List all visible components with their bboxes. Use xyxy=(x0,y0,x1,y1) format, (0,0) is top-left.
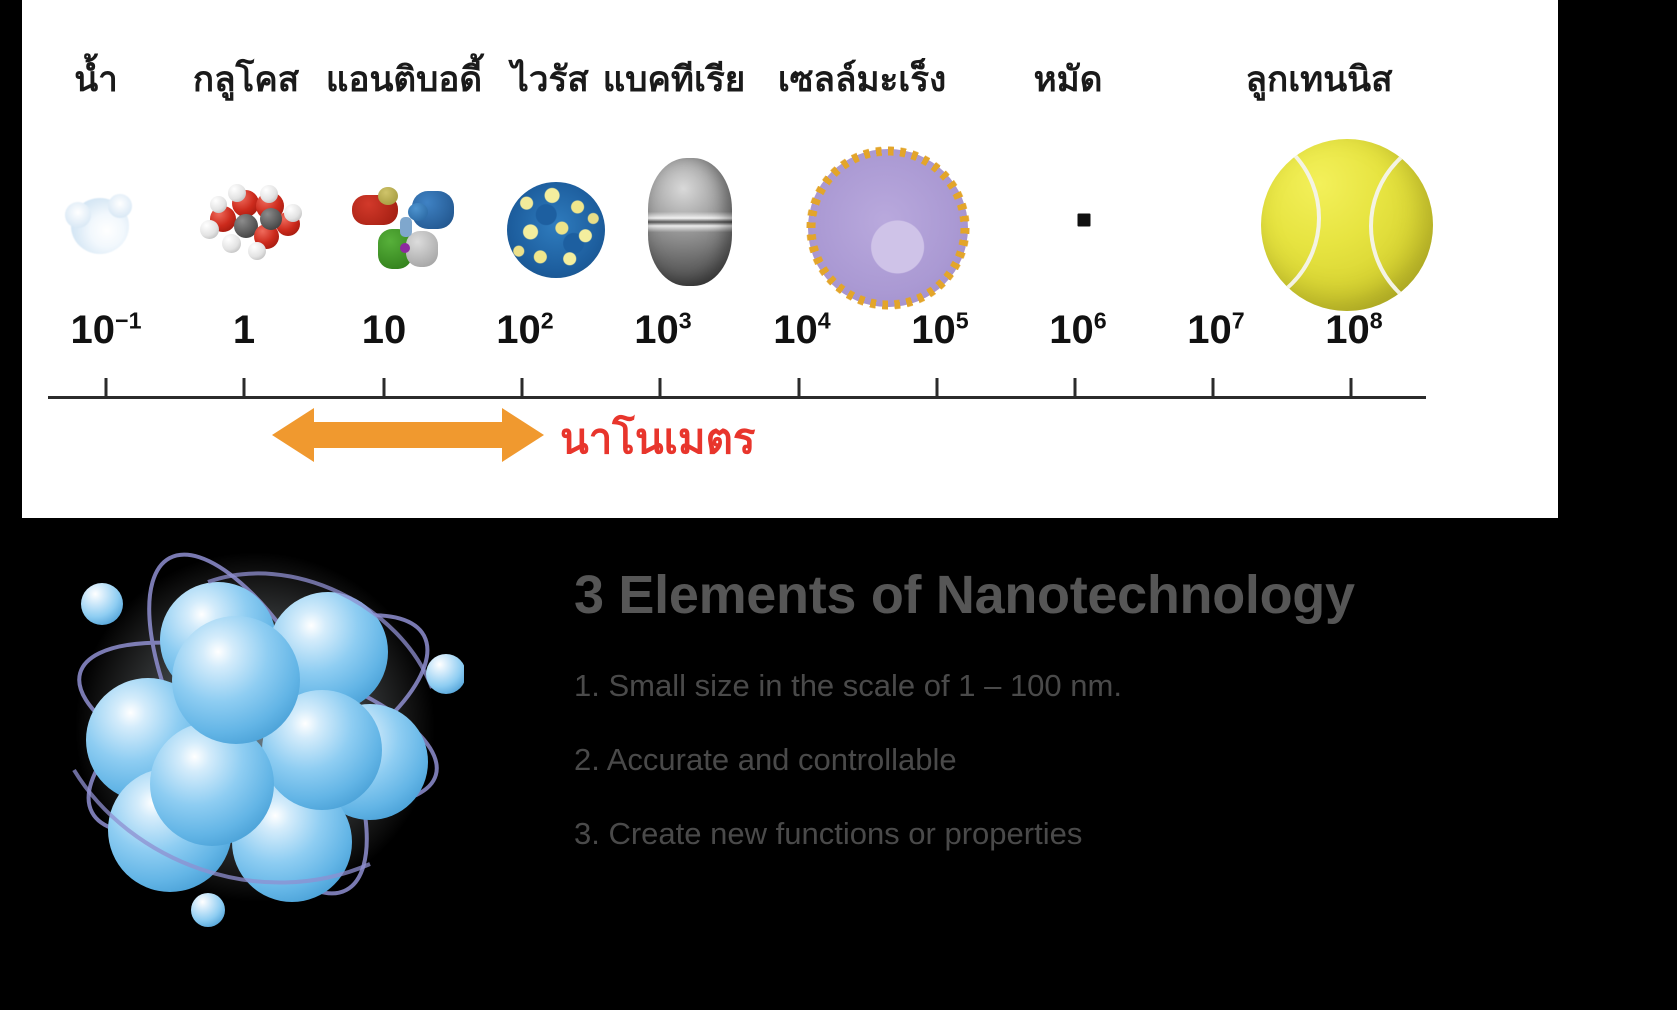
nanometer-range-arrow-icon xyxy=(272,406,544,464)
water-molecule-icon xyxy=(71,198,129,254)
axis-label-2: 10 xyxy=(362,308,407,353)
list-item: 3. Create new functions or properties xyxy=(574,816,1677,852)
nanoscale-chart-panel: น้ำ กลูโคส แอนติบอดี้ ไวรัส แบคทีเรีย เซ… xyxy=(22,0,1558,518)
axis-tick-1 xyxy=(243,378,246,397)
cancer-cell-membrane-ring xyxy=(801,142,975,314)
specimen-label-glucose: กลูโคส xyxy=(193,62,299,99)
tennis-ball-icon xyxy=(1261,139,1433,311)
bacteria-cell-icon xyxy=(648,158,732,286)
specimen-label-water: น้ำ xyxy=(74,62,118,99)
electron-particle xyxy=(191,893,225,927)
specimen-label-tennis-ball: ลูกเทนนิส xyxy=(1246,62,1393,99)
axis-label-7: 106 xyxy=(1049,308,1106,353)
nanometer-caption: นาโนเมตร xyxy=(560,406,755,472)
antibody-molecule-icon xyxy=(352,173,468,283)
virus-particle-icon xyxy=(507,182,605,278)
electron-particle xyxy=(81,583,123,625)
glucose-molecule-icon xyxy=(198,184,302,268)
axis-label-9: 108 xyxy=(1325,308,1382,353)
specimen-label-cancer-cell: เซลล์มะเร็ง xyxy=(778,62,946,99)
content-panel: 3 Elements of Nanotechnology 1. Small si… xyxy=(464,518,1677,1010)
axis-label-4: 103 xyxy=(634,308,691,353)
specimen-label-flea: หมัด xyxy=(1034,62,1103,99)
axis-tick-7 xyxy=(1074,378,1077,397)
specimen-label-virus: ไวรัส xyxy=(511,62,588,99)
slide-root: น้ำ กลูโคส แอนติบอดี้ ไวรัส แบคทีเรีย เซ… xyxy=(0,0,1677,1010)
axis-tick-2 xyxy=(383,378,386,397)
electron-particle xyxy=(426,654,466,694)
axis-label-1: 1 xyxy=(233,308,255,353)
axis-label-0: 10−1 xyxy=(71,308,142,353)
axis-tick-8 xyxy=(1212,378,1215,397)
scale-axis-line xyxy=(48,396,1426,399)
flea-icon xyxy=(1078,214,1091,227)
atom-illustration xyxy=(40,512,480,932)
axis-tick-4 xyxy=(659,378,662,397)
axis-tick-5 xyxy=(798,378,801,397)
list-item: 1. Small size in the scale of 1 – 100 nm… xyxy=(574,668,1677,704)
axis-label-6: 105 xyxy=(911,308,968,353)
axis-label-3: 102 xyxy=(496,308,553,353)
specimen-label-antibody: แอนติบอดี้ xyxy=(326,62,482,99)
specimen-label-bacteria: แบคทีเรีย xyxy=(603,62,746,99)
cancer-cell-icon xyxy=(808,149,968,307)
elements-list: 1. Small size in the scale of 1 – 100 nm… xyxy=(574,668,1677,852)
axis-tick-9 xyxy=(1350,378,1353,397)
axis-label-8: 107 xyxy=(1187,308,1244,353)
axis-tick-6 xyxy=(936,378,939,397)
axis-tick-0 xyxy=(105,378,108,397)
axis-tick-3 xyxy=(521,378,524,397)
list-item: 2. Accurate and controllable xyxy=(574,742,1677,778)
axis-label-5: 104 xyxy=(773,308,830,353)
page-title: 3 Elements of Nanotechnology xyxy=(574,564,1677,626)
